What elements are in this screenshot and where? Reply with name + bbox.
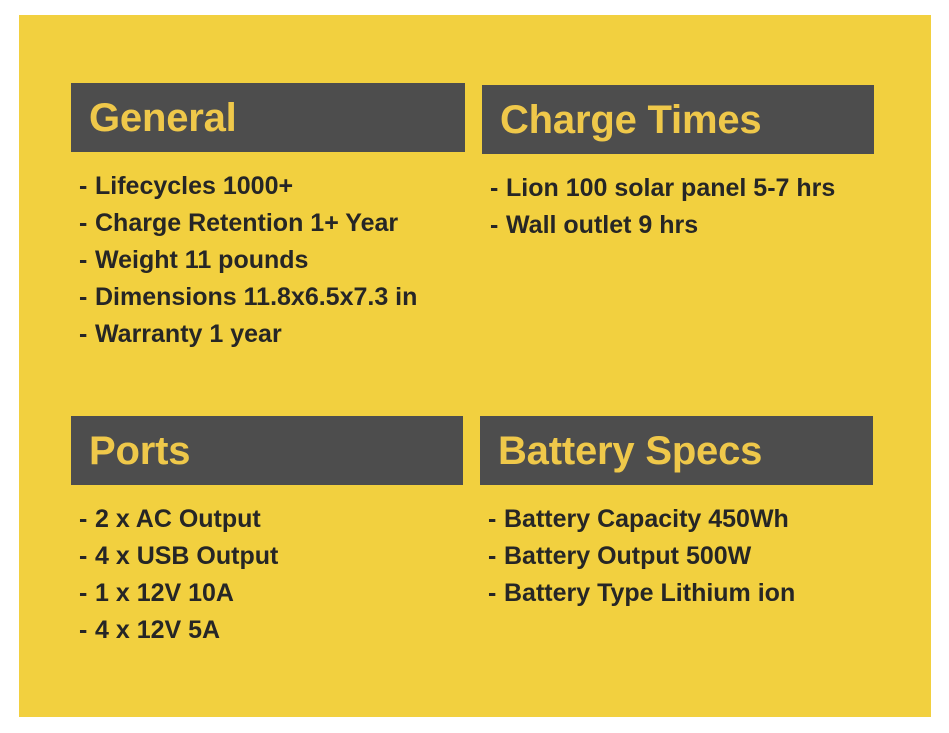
section-header-battery-specs: Battery Specs bbox=[480, 416, 873, 485]
dash-bullet-icon: - bbox=[71, 205, 95, 242]
section-title-general: General bbox=[89, 98, 237, 138]
list-item: - Lifecycles 1000+ bbox=[71, 168, 465, 205]
list-item-label: Battery Output 500W bbox=[504, 538, 751, 575]
list-item-label: 4 x 12V 5A bbox=[95, 612, 220, 649]
list-item-label: Charge Retention 1+ Year bbox=[95, 205, 398, 242]
list-item-label: Battery Type Lithium ion bbox=[504, 575, 795, 612]
dash-bullet-icon: - bbox=[482, 170, 506, 207]
section-header-charge-times: Charge Times bbox=[482, 85, 874, 154]
list-item-label: 2 x AC Output bbox=[95, 501, 261, 538]
dash-bullet-icon: - bbox=[71, 612, 95, 649]
spec-list-general: - Lifecycles 1000+ - Charge Retention 1+… bbox=[71, 168, 465, 353]
dash-bullet-icon: - bbox=[71, 168, 95, 205]
dash-bullet-icon: - bbox=[480, 575, 504, 612]
spec-card-charge-times: Charge Times - Lion 100 solar panel 5-7 … bbox=[482, 85, 874, 244]
list-item-label: Lion 100 solar panel 5-7 hrs bbox=[506, 170, 835, 207]
section-title-charge-times: Charge Times bbox=[500, 100, 761, 140]
spec-list-charge-times: - Lion 100 solar panel 5-7 hrs - Wall ou… bbox=[482, 170, 874, 244]
dash-bullet-icon: - bbox=[71, 279, 95, 316]
dash-bullet-icon: - bbox=[480, 538, 504, 575]
list-item-label: Wall outlet 9 hrs bbox=[506, 207, 698, 244]
list-item-label: 1 x 12V 10A bbox=[95, 575, 234, 612]
spec-list-battery-specs: - Battery Capacity 450Wh - Battery Outpu… bbox=[480, 501, 873, 612]
section-header-general: General bbox=[71, 83, 465, 152]
list-item-label: 4 x USB Output bbox=[95, 538, 278, 575]
section-title-ports: Ports bbox=[89, 431, 190, 471]
dash-bullet-icon: - bbox=[71, 538, 95, 575]
list-item: - 1 x 12V 10A bbox=[71, 575, 463, 612]
dash-bullet-icon: - bbox=[71, 501, 95, 538]
list-item: - Weight 11 pounds bbox=[71, 242, 465, 279]
list-item: - Dimensions 11.8x6.5x7.3 in bbox=[71, 279, 465, 316]
spec-card-general: General - Lifecycles 1000+ - Charge Rete… bbox=[71, 83, 465, 353]
list-item: - Wall outlet 9 hrs bbox=[482, 207, 874, 244]
spec-sheet-panel: General - Lifecycles 1000+ - Charge Rete… bbox=[19, 15, 931, 717]
dash-bullet-icon: - bbox=[480, 501, 504, 538]
spec-list-ports: - 2 x AC Output - 4 x USB Output - 1 x 1… bbox=[71, 501, 463, 649]
spec-card-grid: General - Lifecycles 1000+ - Charge Rete… bbox=[19, 15, 931, 717]
list-item: - 4 x 12V 5A bbox=[71, 612, 463, 649]
dash-bullet-icon: - bbox=[71, 316, 95, 353]
list-item: - Battery Capacity 450Wh bbox=[480, 501, 873, 538]
section-title-battery-specs: Battery Specs bbox=[498, 431, 762, 471]
list-item: - 2 x AC Output bbox=[71, 501, 463, 538]
list-item: - Charge Retention 1+ Year bbox=[71, 205, 465, 242]
list-item-label: Weight 11 pounds bbox=[95, 242, 308, 279]
list-item-label: Dimensions 11.8x6.5x7.3 in bbox=[95, 279, 417, 316]
list-item-label: Lifecycles 1000+ bbox=[95, 168, 293, 205]
list-item: - Lion 100 solar panel 5-7 hrs bbox=[482, 170, 874, 207]
list-item-label: Warranty 1 year bbox=[95, 316, 282, 353]
list-item-label: Battery Capacity 450Wh bbox=[504, 501, 789, 538]
list-item: - 4 x USB Output bbox=[71, 538, 463, 575]
spec-card-ports: Ports - 2 x AC Output - 4 x USB Output -… bbox=[71, 416, 463, 649]
dash-bullet-icon: - bbox=[71, 575, 95, 612]
list-item: - Warranty 1 year bbox=[71, 316, 465, 353]
list-item: - Battery Output 500W bbox=[480, 538, 873, 575]
dash-bullet-icon: - bbox=[71, 242, 95, 279]
section-header-ports: Ports bbox=[71, 416, 463, 485]
list-item: - Battery Type Lithium ion bbox=[480, 575, 873, 612]
spec-card-battery-specs: Battery Specs - Battery Capacity 450Wh -… bbox=[480, 416, 873, 612]
dash-bullet-icon: - bbox=[482, 207, 506, 244]
